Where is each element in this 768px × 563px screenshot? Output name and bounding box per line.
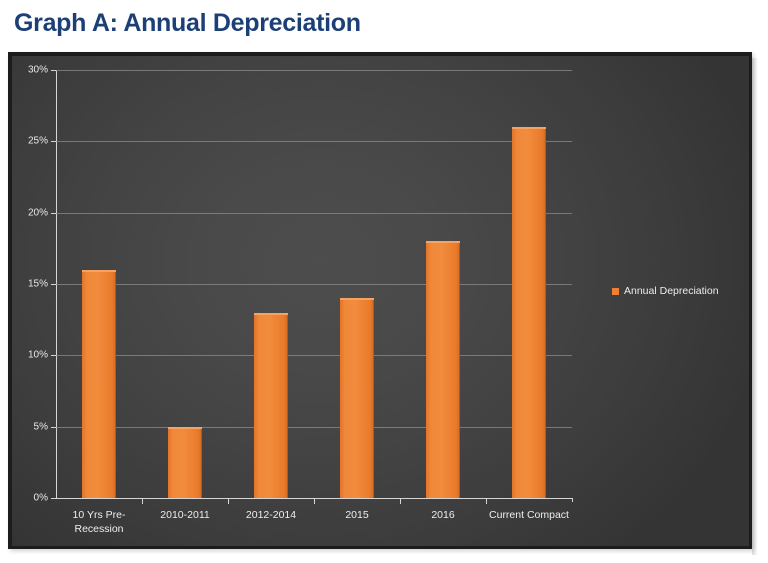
legend-item-label: Annual Depreciation — [624, 285, 719, 297]
bar[interactable] — [168, 427, 202, 498]
y-axis-tick — [51, 213, 56, 214]
x-axis-category-label: 2012-2014 — [228, 508, 314, 522]
y-axis-tick-label: 20% — [14, 207, 48, 218]
bar[interactable] — [426, 241, 460, 498]
bar[interactable] — [82, 270, 116, 498]
x-axis-category-label: 2010-2011 — [142, 508, 228, 522]
gridline — [56, 427, 572, 428]
y-axis-tick-label: 10% — [14, 350, 48, 361]
legend-swatch-icon — [612, 288, 619, 295]
gridline — [56, 355, 572, 356]
y-axis-tick — [51, 427, 56, 428]
page-title: Graph A: Annual Depreciation — [14, 9, 361, 38]
gridline — [56, 70, 572, 71]
plot-area — [56, 70, 572, 498]
y-axis-tick — [51, 70, 56, 71]
bar[interactable] — [254, 313, 288, 498]
y-axis-tick-label: 15% — [14, 279, 48, 290]
x-axis-tick — [314, 499, 315, 504]
y-axis-tick — [51, 498, 56, 499]
gridline — [56, 141, 572, 142]
bar[interactable] — [340, 298, 374, 498]
gridline — [56, 284, 572, 285]
x-axis-category-label: 10 Yrs Pre- Recession — [56, 508, 142, 536]
x-axis-tick — [142, 499, 143, 504]
y-axis-tick-label: 30% — [14, 65, 48, 76]
x-axis-tick — [228, 499, 229, 504]
y-axis-tick-label: 0% — [14, 493, 48, 504]
x-axis-category-label: 2015 — [314, 508, 400, 522]
x-axis-category-label: Current Compact — [486, 508, 572, 522]
chart-legend: Annual Depreciation — [612, 285, 719, 297]
y-axis-tick — [51, 141, 56, 142]
chart-plot-background: 0%5%10%15%20%25%30%10 Yrs Pre- Recession… — [12, 56, 749, 546]
x-axis-tick — [400, 499, 401, 504]
y-axis-tick-label: 25% — [14, 136, 48, 147]
y-axis-tick — [51, 355, 56, 356]
gridline — [56, 213, 572, 214]
chart-panel: 0%5%10%15%20%25%30%10 Yrs Pre- Recession… — [8, 52, 752, 549]
y-axis-tick — [51, 284, 56, 285]
x-axis-tick — [486, 499, 487, 504]
bar[interactable] — [512, 127, 546, 498]
x-axis-category-label: 2016 — [400, 508, 486, 522]
x-axis-end-cap — [572, 498, 573, 502]
y-axis-tick-label: 5% — [14, 421, 48, 432]
